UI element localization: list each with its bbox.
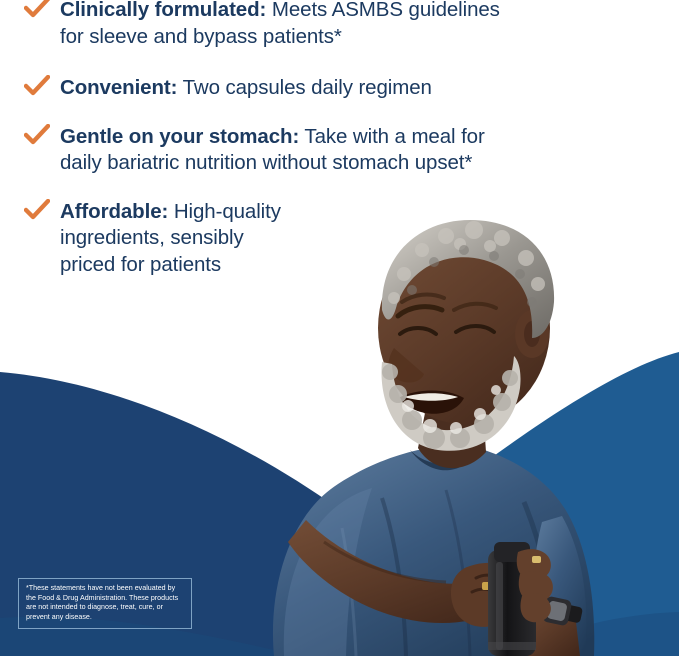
disclaimer-box: *These statements have not been evaluate… [18, 578, 192, 629]
benefits-list: Clinically formulated: Meets ASMBS guide… [0, 0, 640, 212]
check-icon [24, 0, 50, 19]
benefit-text: Affordable: High-quality ingredients, se… [60, 200, 281, 276]
benefit-text: Clinically formulated: Meets ASMBS guide… [60, 0, 500, 48]
benefit-item-affordable: Affordable: High-quality ingredients, se… [0, 199, 640, 279]
benefit-item-clinically-formulated: Clinically formulated: Meets ASMBS guide… [0, 0, 640, 50]
benefit-text: Gentle on your stomach: Take with a meal… [60, 125, 485, 175]
check-icon [24, 75, 50, 97]
benefit-lead: Convenient: [60, 76, 177, 99]
benefit-lead: Clinically formulated: [60, 0, 266, 21]
disclaimer-text: *These statements have not been evaluate… [26, 584, 178, 621]
benefit-item-convenient: Convenient: Two capsules daily regimen [0, 75, 640, 102]
benefit-lead: Affordable: [60, 200, 168, 223]
benefit-text: Convenient: Two capsules daily regimen [60, 76, 432, 99]
benefit-body: Two capsules daily regimen [177, 76, 431, 99]
promo-image: Clinically formulated: Meets ASMBS guide… [0, 0, 679, 656]
check-icon [24, 199, 50, 221]
benefit-item-gentle-on-your-stomach: Gentle on your stomach: Take with a meal… [0, 124, 640, 177]
check-icon [24, 124, 50, 146]
benefit-lead: Gentle on your stomach: [60, 125, 299, 148]
